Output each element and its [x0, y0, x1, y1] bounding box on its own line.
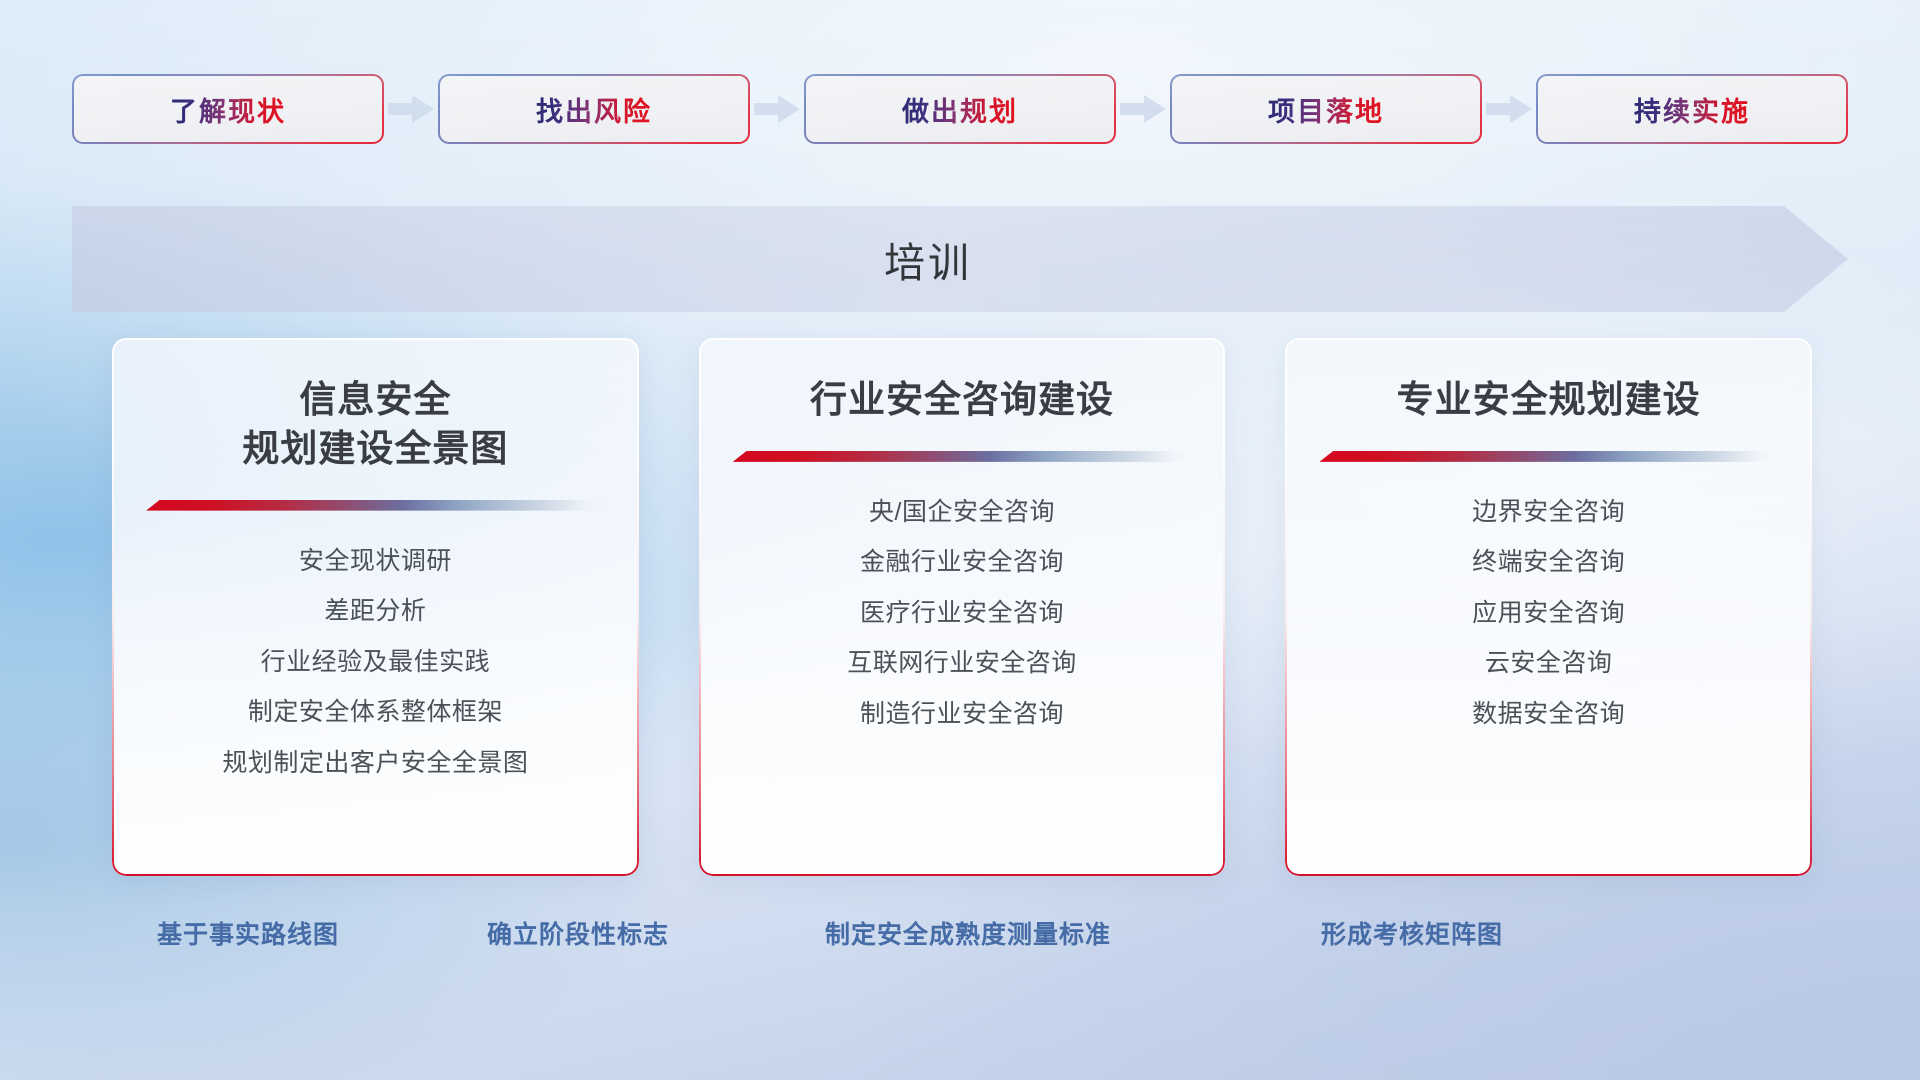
- footer-label: 确立阶段性标志: [487, 915, 669, 951]
- process-step-row: 了解现状 找出风险 做出规划 项目落地: [0, 76, 1920, 142]
- right-arrow-icon: [382, 92, 440, 126]
- list-item: 规划制定出客户安全全景图: [222, 743, 528, 784]
- list-item: 终端安全咨询: [1472, 542, 1625, 583]
- list-item: 互联网行业安全咨询: [847, 643, 1077, 684]
- process-step-2[interactable]: 找出风险: [440, 76, 748, 142]
- card-divider: [733, 451, 1192, 462]
- footer-label: 制定安全成熟度测量标准: [825, 915, 1111, 951]
- footer-label: 基于事实路线图: [157, 915, 339, 951]
- card-title: 行业安全咨询建设: [810, 376, 1114, 425]
- list-item: 金融行业安全咨询: [860, 542, 1064, 583]
- card-divider: [1319, 451, 1778, 462]
- list-item: 边界安全咨询: [1472, 492, 1625, 533]
- right-arrow-icon: [1114, 92, 1172, 126]
- process-step-label: 找出风险: [536, 90, 652, 129]
- card-professional-security-planning[interactable]: 专业安全规划建设 边界安全咨询 终端安全咨询 应用安全咨询 云安全咨询 数据安全…: [1285, 338, 1812, 876]
- process-step-4[interactable]: 项目落地: [1172, 76, 1480, 142]
- list-item: 制造行业安全咨询: [860, 694, 1064, 735]
- list-item: 应用安全咨询: [1472, 593, 1625, 634]
- footer-label-row: 基于事实路线图 确立阶段性标志 制定安全成熟度测量标准 形成考核矩阵图: [0, 915, 1920, 957]
- process-step-label: 做出规划: [902, 90, 1018, 129]
- slide-canvas: 了解现状 找出风险 做出规划 项目落地: [0, 0, 1920, 1080]
- list-item: 安全现状调研: [299, 541, 452, 582]
- process-step-label: 项目落地: [1268, 90, 1384, 129]
- list-item: 行业经验及最佳实践: [261, 642, 491, 683]
- right-arrow-icon: [748, 92, 806, 126]
- right-arrow-icon: [1480, 92, 1538, 126]
- card-title: 信息安全 规划建设全景图: [242, 376, 508, 474]
- card-item-list: 边界安全咨询 终端安全咨询 应用安全咨询 云安全咨询 数据安全咨询: [1472, 492, 1625, 735]
- process-step-label: 了解现状: [170, 90, 286, 129]
- list-item: 央/国企安全咨询: [869, 492, 1055, 533]
- card-information-security-blueprint[interactable]: 信息安全 规划建设全景图 安全现状调研 差距分析 行业经验及最佳实践 制定安全体…: [112, 338, 639, 876]
- card-group: 信息安全 规划建设全景图 安全现状调研 差距分析 行业经验及最佳实践 制定安全体…: [112, 338, 1812, 876]
- card-industry-security-consulting[interactable]: 行业安全咨询建设 央/国企安全咨询 金融行业安全咨询 医疗行业安全咨询 互联网行…: [699, 338, 1226, 876]
- banner-title: 培训: [72, 206, 1848, 312]
- footer-label: 形成考核矩阵图: [1321, 915, 1503, 951]
- list-item: 差距分析: [324, 591, 426, 632]
- card-item-list: 央/国企安全咨询 金融行业安全咨询 医疗行业安全咨询 互联网行业安全咨询 制造行…: [847, 492, 1077, 735]
- process-step-5[interactable]: 持续实施: [1538, 76, 1846, 142]
- card-item-list: 安全现状调研 差距分析 行业经验及最佳实践 制定安全体系整体框架 规划制定出客户…: [222, 541, 528, 784]
- list-item: 数据安全咨询: [1472, 694, 1625, 735]
- training-banner: 培训: [72, 206, 1848, 312]
- list-item: 云安全咨询: [1485, 643, 1613, 684]
- process-step-1[interactable]: 了解现状: [74, 76, 382, 142]
- list-item: 医疗行业安全咨询: [860, 593, 1064, 634]
- card-title: 专业安全规划建设: [1397, 376, 1701, 425]
- process-step-label: 持续实施: [1634, 90, 1750, 129]
- card-divider: [146, 500, 605, 511]
- list-item: 制定安全体系整体框架: [248, 692, 503, 733]
- process-step-3[interactable]: 做出规划: [806, 76, 1114, 142]
